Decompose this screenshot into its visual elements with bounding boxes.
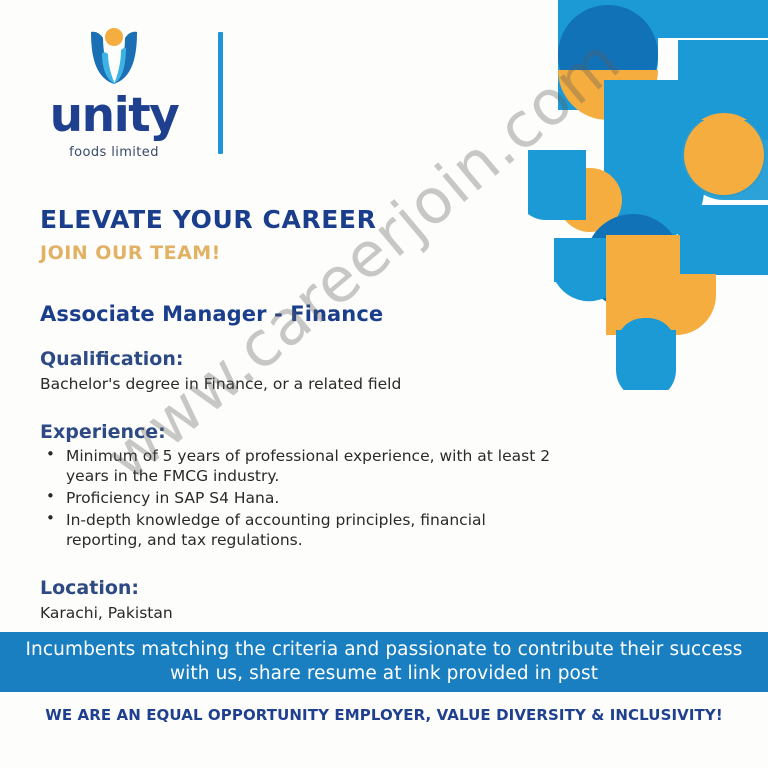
location-text: Karachi, Pakistan xyxy=(40,603,560,624)
decorative-geometric-pattern xyxy=(528,0,768,390)
qualification-text: Bachelor's degree in Finance, or a relat… xyxy=(40,374,560,395)
brand-wordmark: unity xyxy=(50,92,179,139)
list-item: Minimum of 5 years of professional exper… xyxy=(40,446,560,487)
experience-heading: Experience: xyxy=(40,421,560,443)
qualification-heading: Qualification: xyxy=(40,348,560,370)
logo-vertical-divider xyxy=(218,32,223,154)
brand-logo-block: unity foods limited xyxy=(48,26,223,160)
job-title: Associate Manager - Finance xyxy=(40,302,560,326)
location-heading: Location: xyxy=(40,577,560,599)
experience-bullet-list: Minimum of 5 years of professional exper… xyxy=(40,446,560,551)
job-details-content: ELEVATE YOUR CAREER JOIN OUR TEAM! Assoc… xyxy=(40,206,560,624)
subheadline: JOIN OUR TEAM! xyxy=(40,242,560,264)
job-posting-poster: unity foods limited ELEVATE YOUR CAREER … xyxy=(0,0,768,768)
list-item: Proficiency in SAP S4 Hana. xyxy=(40,488,560,509)
brand-tagline: foods limited xyxy=(69,145,159,160)
unity-leaf-figure-logo-icon xyxy=(81,26,147,88)
equal-opportunity-footer: WE ARE AN EQUAL OPPORTUNITY EMPLOYER, VA… xyxy=(0,706,768,724)
cta-banner-text: Incumbents matching the criteria and pas… xyxy=(0,638,768,686)
list-item: In-depth knowledge of accounting princip… xyxy=(40,510,560,551)
cta-banner: Incumbents matching the criteria and pas… xyxy=(0,632,768,692)
headline: ELEVATE YOUR CAREER xyxy=(40,206,560,235)
